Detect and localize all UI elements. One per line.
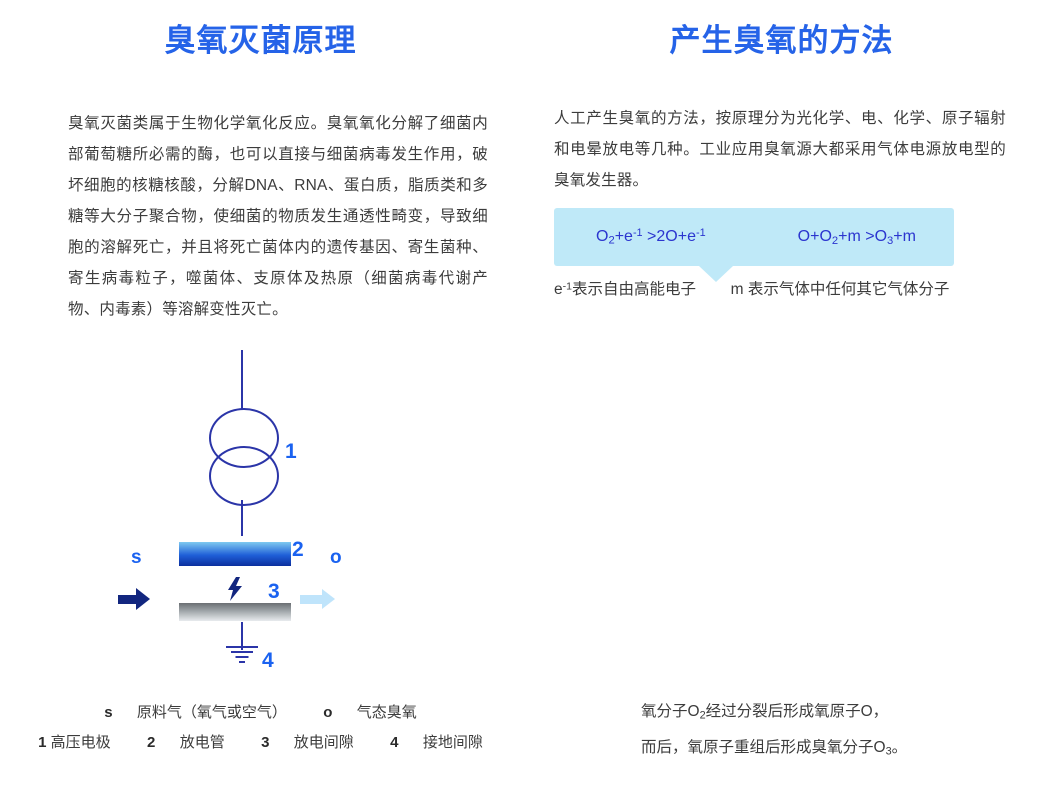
right-title: 产生臭氧的方法 — [521, 22, 1042, 59]
formula-caption: e-1表示自由高能电子 m 表示气体中任何其它气体分子 — [554, 277, 1014, 299]
right-caption-line-2: 而后，氧原子重组后形成臭氧分子O3。 — [641, 732, 1042, 768]
diagram-label-4: 4 — [262, 649, 274, 673]
diagram-label-s: s — [131, 547, 142, 569]
legend-text-s: 原料气（氧气或空气） — [137, 704, 287, 721]
legend-text-4: 接地间隙 — [423, 734, 483, 751]
formula-equation-2: O+O2+m >O3+m — [798, 228, 916, 247]
legend-key-1: 1 — [38, 734, 46, 751]
right-caption: 氧分子O2经过分裂后形成氧原子O， 而后，氧原子重组后形成臭氧分子O3。 — [521, 696, 1042, 767]
ozone-generator-diagram: 1 2 s o 3 4 — [0, 340, 521, 680]
diagram-legend: s 原料气（氧气或空气） o 气态臭氧 1 高压电极 2 放电管 3 放电间隙 — [0, 698, 521, 758]
ground-electrode — [179, 603, 291, 621]
legend-line-1: s 原料气（氧气或空气） o 气态臭氧 — [0, 698, 521, 728]
diagram-label-1: 1 — [285, 440, 297, 464]
earth-ground-icon — [222, 646, 262, 664]
wire-middle — [241, 500, 243, 536]
formula-callout: O2+e-1 >2O+e-1 O+O2+m >O3+m — [554, 208, 954, 266]
left-title: 臭氧灭菌原理 — [0, 22, 521, 59]
legend-text-o: 气态臭氧 — [357, 704, 417, 721]
poster-root: 臭氧灭菌原理 臭氧灭菌类属于生物化学氧化反应。臭氧氧化分解了细菌内部葡萄糖所必需… — [0, 0, 1042, 785]
legend-line-2: 1 高压电极 2 放电管 3 放电间隙 4 接地间隙 — [0, 728, 521, 758]
diagram-label-3: 3 — [268, 580, 280, 604]
left-paragraph: 臭氧灭菌类属于生物化学氧化反应。臭氧氧化分解了细菌内部葡萄糖所必需的酶，也可以直… — [68, 108, 488, 325]
wire-top — [241, 350, 243, 410]
right-paragraph: 人工产生臭氧的方法，按原理分为光化学、电、化学、原子辐射和电晕放电等几种。工业应… — [554, 103, 1006, 196]
diagram-label-2: 2 — [292, 538, 304, 562]
high-voltage-electrode — [179, 542, 291, 566]
formula-caption-right: m 表示气体中任何其它气体分子 — [731, 281, 950, 298]
ozone-formation-diagram — [521, 340, 1042, 670]
discharge-spark-icon — [227, 577, 243, 601]
legend-key-3: 3 — [261, 734, 269, 751]
legend-key-s: s — [104, 704, 112, 721]
formula-box: O2+e-1 >2O+e-1 O+O2+m >O3+m — [554, 208, 954, 266]
right-caption-line-1: 氧分子O2经过分裂后形成氧原子O， — [641, 696, 1042, 732]
legend-key-o: o — [323, 704, 332, 721]
legend-key-4: 4 — [390, 734, 398, 751]
formula-equation-1: O2+e-1 >2O+e-1 — [596, 227, 706, 247]
legend-text-1: 高压电极 — [51, 734, 111, 751]
left-column: 臭氧灭菌原理 臭氧灭菌类属于生物化学氧化反应。臭氧氧化分解了细菌内部葡萄糖所必需… — [0, 0, 521, 785]
legend-text-3: 放电间隙 — [294, 734, 354, 751]
diagram-label-o: o — [330, 547, 342, 569]
legend-text-2: 放电管 — [180, 734, 225, 751]
formula-caption-left: e-1表示自由高能电子 — [554, 281, 696, 298]
legend-key-2: 2 — [147, 734, 155, 751]
transformer-coil-lower-icon — [209, 446, 279, 506]
